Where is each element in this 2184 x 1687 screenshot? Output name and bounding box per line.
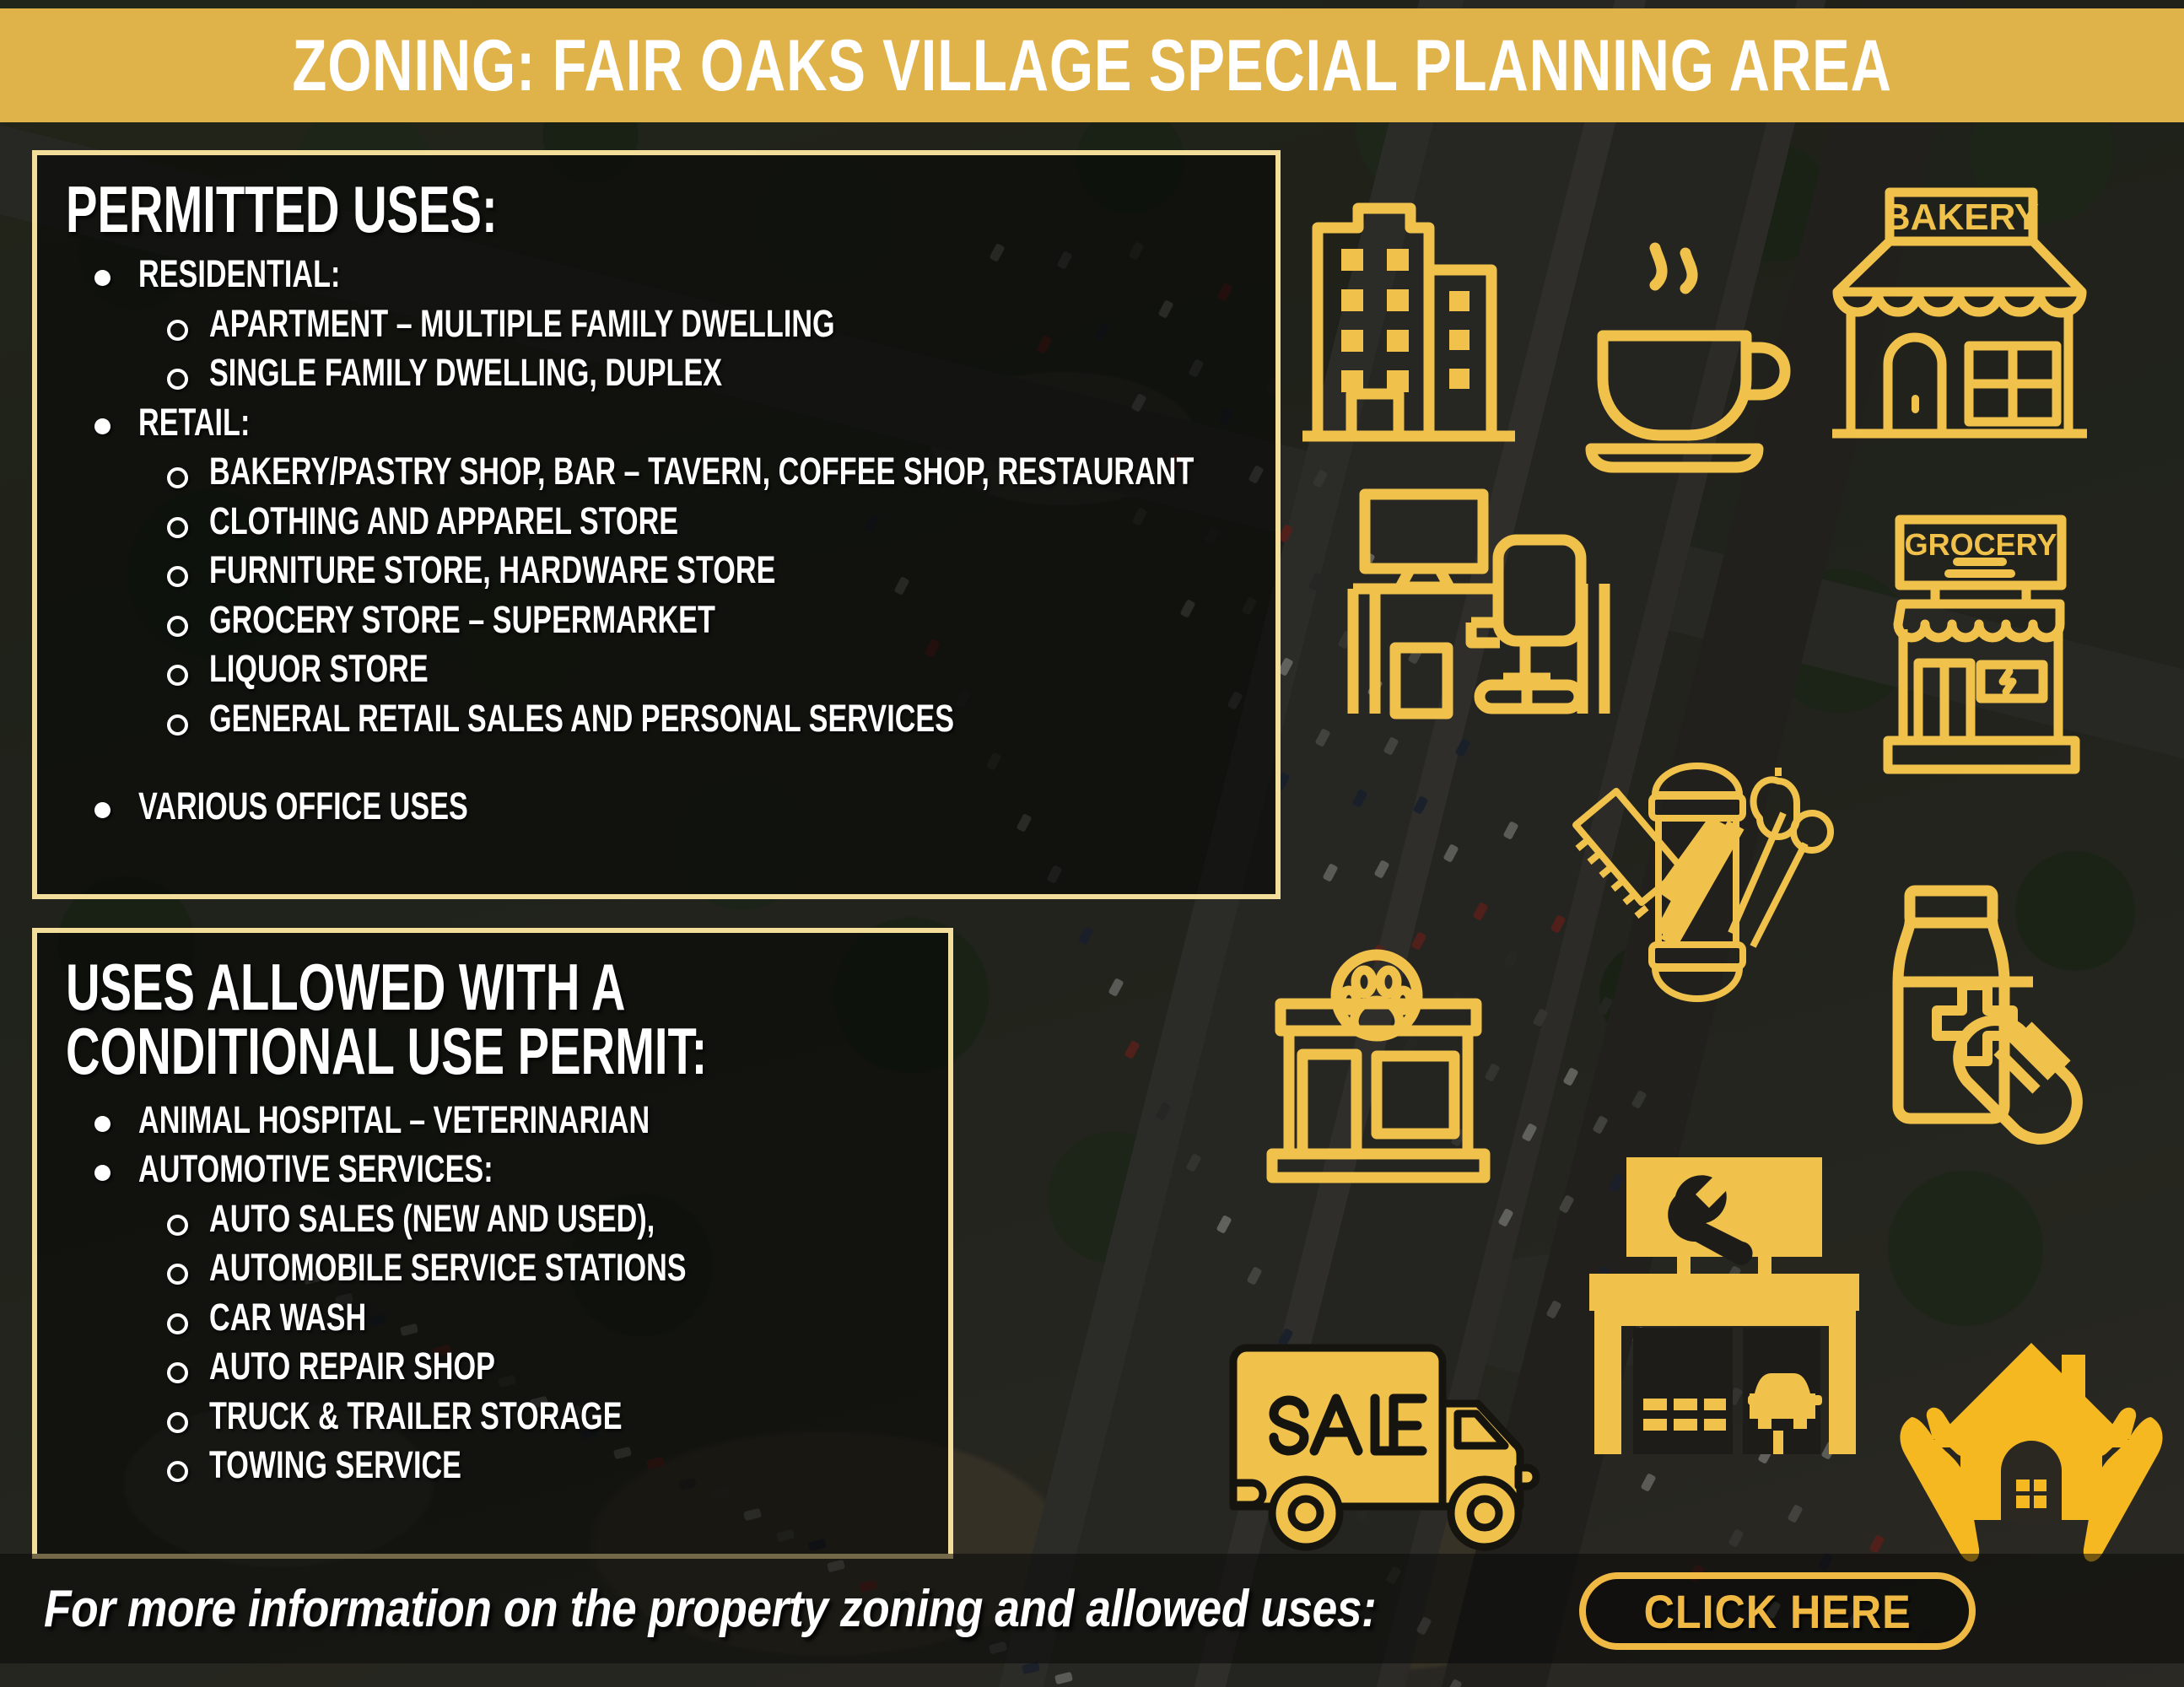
apartment-buildings-icon (1299, 181, 1518, 460)
grocery-storefront-icon: GROCERY (1883, 513, 2127, 783)
barber-pole-icon (1571, 759, 1908, 1038)
pharmacy-bottle-icon (1879, 882, 2141, 1144)
list-item-label: AUTOMOTIVE SERVICES: (138, 1145, 493, 1194)
sub-list: AUTO SALES (NEW AND USED),AUTOMOBILE SER… (209, 1194, 923, 1490)
list-item: BAKERY/PASTRY SHOP, BAR – TAVERN, COFFEE… (209, 447, 1250, 497)
coffee-cup-icon (1577, 236, 1771, 468)
click-here-button[interactable]: CLICK HERE (1579, 1572, 1976, 1650)
list-item-label: CLOTHING AND APPAREL STORE (209, 497, 678, 547)
permitted-uses-panel: PERMITTED USES: RESIDENTIAL:APARTMENT – … (32, 150, 1281, 899)
list-item: GROCERY STORE – SUPERMARKET (209, 596, 1250, 645)
list-item-label: ANIMAL HOSPITAL – VETERINARIAN (138, 1096, 650, 1145)
office-desk-icon (1346, 488, 1625, 741)
infographic-page: BAKERY GROCERY (0, 0, 2184, 1687)
list-item: FURNITURE STORE, HARDWARE STORE (209, 546, 1250, 596)
list-item-label: GENERAL RETAIL SALES AND PERSONAL SERVIC… (209, 694, 954, 744)
conditional-uses-heading: USES ALLOWED WITH A CONDITIONAL USE PERM… (66, 955, 935, 1084)
bakery-storefront-icon: BAKERY (1829, 186, 2090, 455)
list-item: TRUCK & TRAILER STORAGE (209, 1392, 923, 1442)
house-in-hands-icon (1896, 1336, 2166, 1564)
list-item: APARTMENT – MULTIPLE FAMILY DWELLING (209, 299, 1250, 349)
list-item: AUTO REPAIR SHOP (209, 1342, 923, 1392)
list-item: GENERAL RETAIL SALES AND PERSONAL SERVIC… (209, 694, 1250, 744)
list-item: LIQUOR STORE (209, 644, 1250, 694)
list-item: RETAIL: (138, 398, 1250, 448)
list-item: CAR WASH (209, 1293, 923, 1343)
list-item: SINGLE FAMILY DWELLING, DUPLEX (209, 348, 1250, 398)
list-item: TOWING SERVICE (209, 1441, 923, 1490)
list-item: CLOTHING AND APPAREL STORE (209, 497, 1250, 547)
list-item: RESIDENTIAL: (138, 250, 1250, 299)
list-item: AUTOMOBILE SERVICE STATIONS (209, 1243, 923, 1293)
header-bar: ZONING: FAIR OAKS VILLAGE SPECIAL PLANNI… (0, 8, 2184, 122)
list-item-label: AUTO SALES (NEW AND USED), (209, 1194, 655, 1244)
footer-info-text: For more information on the property zon… (44, 1579, 1376, 1639)
list-item-label: GROCERY STORE – SUPERMARKET (209, 596, 715, 645)
page-title: ZONING: FAIR OAKS VILLAGE SPECIAL PLANNI… (292, 30, 1891, 102)
list-item-label: FURNITURE STORE, HARDWARE STORE (209, 546, 775, 596)
conditional-uses-list: ANIMAL HOSPITAL – VETERINARIANAUTOMOTIVE… (138, 1096, 923, 1490)
list-item-label: APARTMENT – MULTIPLE FAMILY DWELLING (209, 299, 835, 349)
svg-text:BAKERY: BAKERY (1884, 197, 2039, 238)
list-item: VARIOUS OFFICE USES (138, 782, 1250, 832)
list-item: ANIMAL HOSPITAL – VETERINARIAN (138, 1096, 923, 1145)
sub-list: BAKERY/PASTRY SHOP, BAR – TAVERN, COFFEE… (209, 447, 1250, 743)
permitted-uses-heading: PERMITTED USES: (66, 177, 919, 241)
list-item: AUTO SALES (NEW AND USED), (209, 1194, 923, 1244)
auto-repair-shop-icon (1586, 1140, 1923, 1461)
list-item-label: CAR WASH (209, 1293, 366, 1343)
list-item-label: TRUCK & TRAILER STORAGE (209, 1392, 623, 1442)
list-item-label: RESIDENTIAL: (138, 250, 340, 299)
vet-clinic-icon (1265, 938, 1544, 1233)
list-item-label: SINGLE FAMILY DWELLING, DUPLEX (209, 348, 722, 398)
sale-truck-icon (1221, 1326, 1559, 1562)
svg-text:GROCERY: GROCERY (1905, 527, 2057, 562)
sub-list: APARTMENT – MULTIPLE FAMILY DWELLINGSING… (209, 299, 1250, 398)
list-item-label: RETAIL: (138, 398, 250, 448)
permitted-uses-list: RESIDENTIAL:APARTMENT – MULTIPLE FAMILY … (138, 250, 1250, 832)
list-item-label: BAKERY/PASTRY SHOP, BAR – TAVERN, COFFEE… (209, 447, 1194, 497)
list-item-label: AUTOMOBILE SERVICE STATIONS (209, 1243, 687, 1293)
click-here-label: CLICK HERE (1643, 1584, 1911, 1639)
footer-bar: For more information on the property zon… (0, 1554, 2184, 1663)
list-item-label: TOWING SERVICE (209, 1441, 461, 1490)
list-item-label: AUTO REPAIR SHOP (209, 1342, 495, 1392)
list-item-label: LIQUOR STORE (209, 644, 429, 694)
list-spacer (138, 743, 1250, 782)
conditional-uses-panel: USES ALLOWED WITH A CONDITIONAL USE PERM… (32, 928, 953, 1559)
list-item-label: VARIOUS OFFICE USES (138, 782, 468, 832)
list-item: AUTOMOTIVE SERVICES: (138, 1145, 923, 1194)
